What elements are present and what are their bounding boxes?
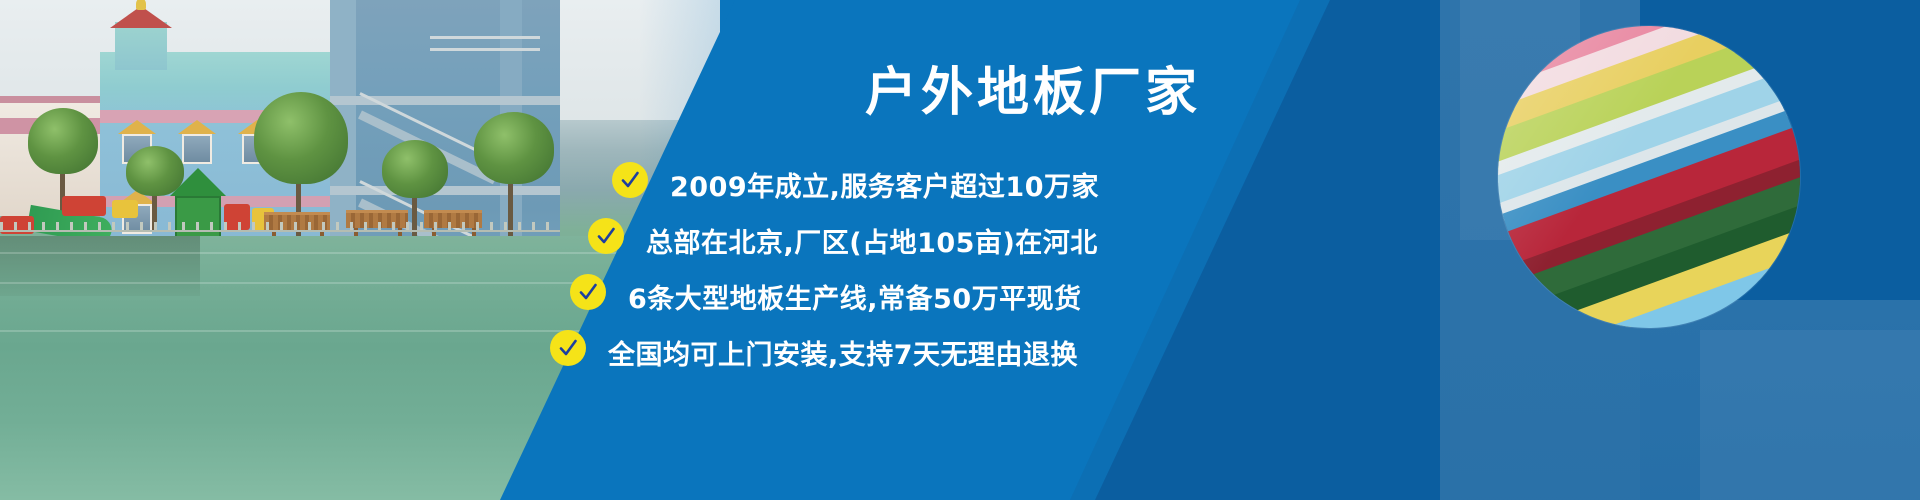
tree <box>254 92 348 184</box>
building-tower <box>115 22 167 70</box>
circle-gloss-overlay <box>1498 26 1800 328</box>
check-circle-icon <box>612 162 648 198</box>
tree <box>382 140 448 198</box>
list-item-label: 2009年成立,服务客户超过10万家 <box>670 165 1099 204</box>
field-shadow <box>0 236 200 296</box>
list-item: 总部在北京,厂区(占地105亩)在河北 <box>700 208 1440 264</box>
tree <box>28 108 98 174</box>
colored-flooring-samples-photo <box>1498 26 1800 328</box>
list-item: 全国均可上门安装,支持7天无理由退换 <box>700 320 1440 376</box>
window-awning <box>178 120 216 134</box>
building-floor-slab <box>330 186 560 195</box>
balcony-railing <box>430 36 540 39</box>
promo-banner: 户外地板厂家 2009年成立,服务客户超过10万家 总部在北京,厂区(占地105… <box>0 0 1920 500</box>
panel-texture-block <box>1700 330 1920 500</box>
check-circle-icon <box>588 218 624 254</box>
page-title: 户外地板厂家 <box>865 67 1201 119</box>
list-item-label: 总部在北京,厂区(占地105亩)在河北 <box>646 221 1098 260</box>
list-item: 6条大型地板生产线,常备50万平现货 <box>700 264 1440 320</box>
check-circle-icon <box>550 330 586 366</box>
window <box>182 134 212 164</box>
list-item: 2009年成立,服务客户超过10万家 <box>700 152 1440 208</box>
tower-finial <box>136 0 146 10</box>
play-equipment <box>112 200 138 218</box>
banner-content: 户外地板厂家 2009年成立,服务客户超过10万家 总部在北京,厂区(占地105… <box>700 0 1440 500</box>
playhouse-roof <box>170 168 226 196</box>
list-item-label: 全国均可上门安装,支持7天无理由退换 <box>608 333 1078 372</box>
playhouse-body <box>175 196 221 240</box>
feature-list: 2009年成立,服务客户超过10万家 总部在北京,厂区(占地105亩)在河北 6… <box>700 152 1440 376</box>
play-equipment <box>62 196 106 216</box>
balcony-railing <box>430 48 540 51</box>
fence <box>0 222 560 232</box>
window-awning <box>118 120 156 134</box>
check-circle-icon <box>570 274 606 310</box>
list-item-label: 6条大型地板生产线,常备50万平现货 <box>628 277 1082 316</box>
